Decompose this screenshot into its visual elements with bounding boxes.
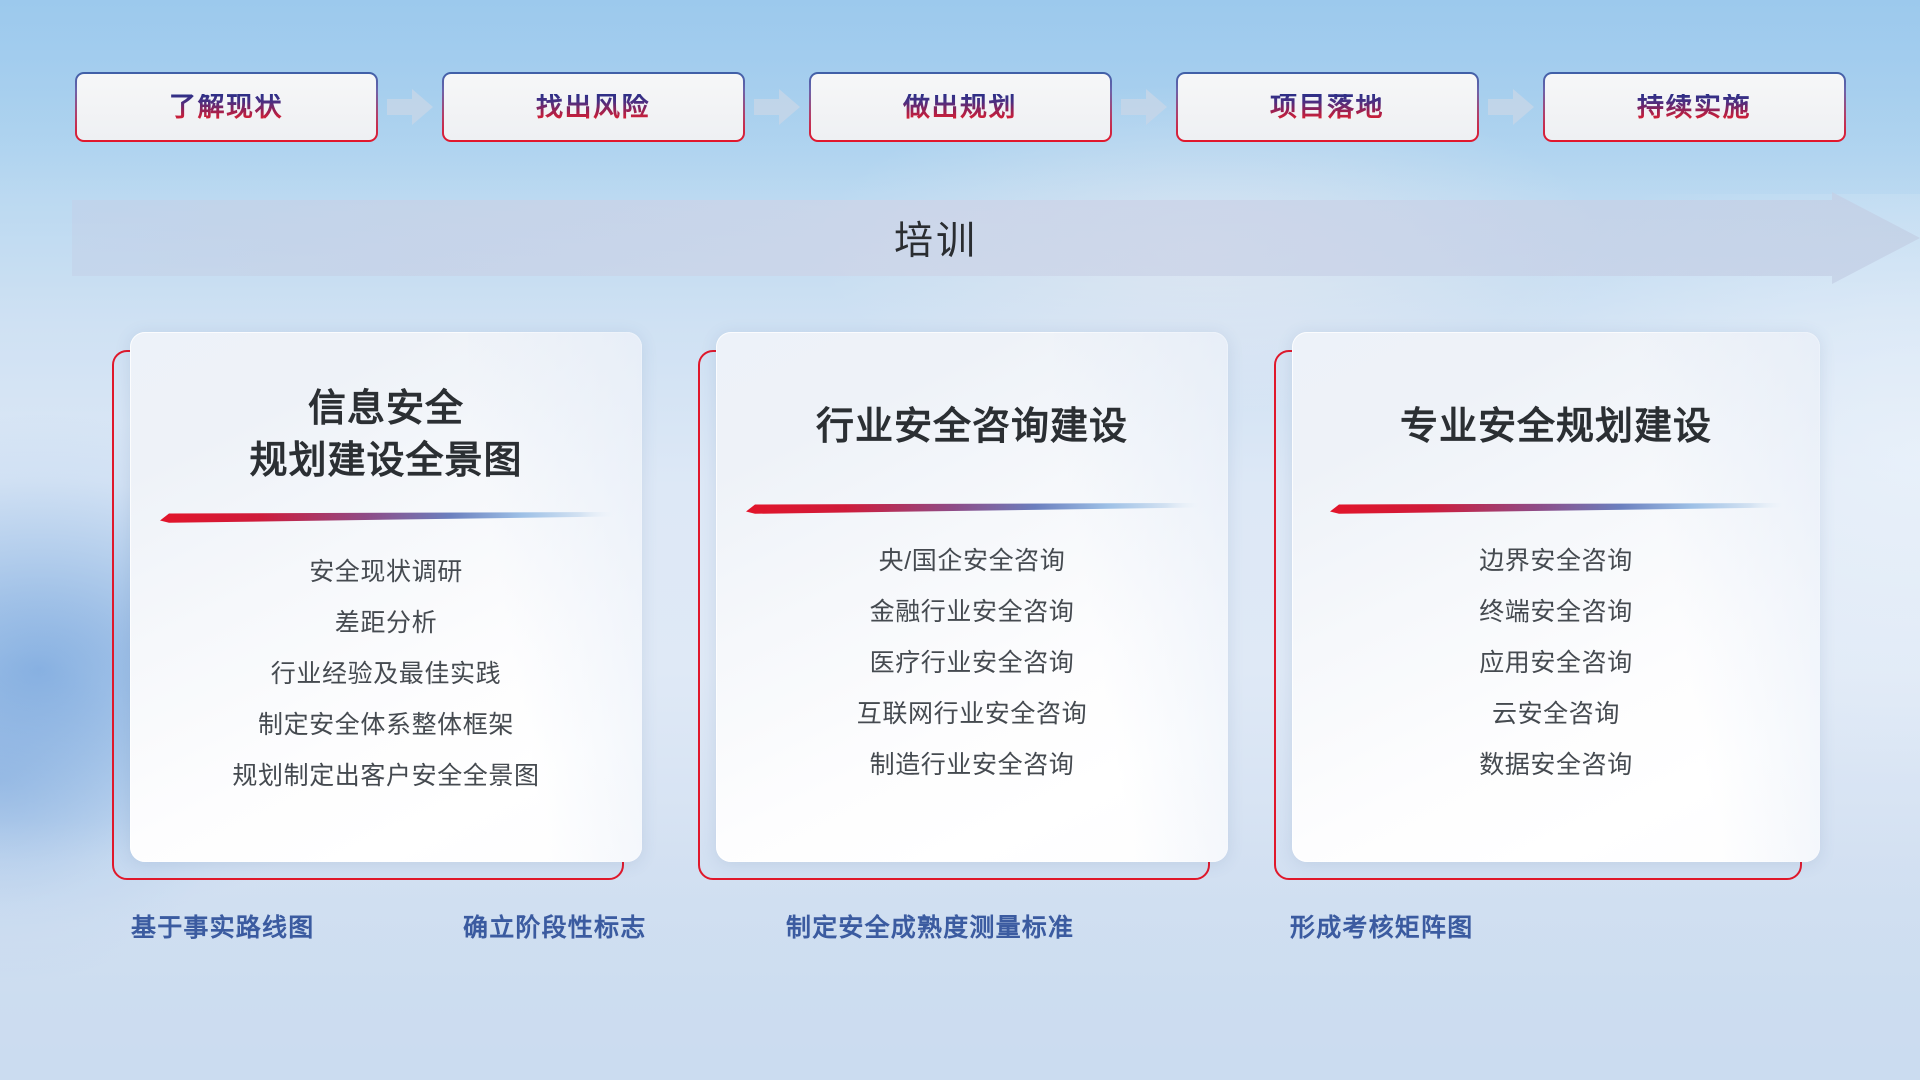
card-gradient-divider (160, 509, 612, 523)
card-body: 信息安全 规划建设全景图安全现状调研差距分析行业经验及最佳实践制定安全体系整体框… (130, 332, 642, 862)
card-panel: 信息安全 规划建设全景图安全现状调研差距分析行业经验及最佳实践制定安全体系整体框… (130, 332, 642, 862)
step-box-inner: 持续实施 (1545, 74, 1844, 140)
card-list-item: 金融行业安全咨询 (870, 587, 1075, 638)
card-row: 信息安全 规划建设全景图安全现状调研差距分析行业经验及最佳实践制定安全体系整体框… (0, 332, 1920, 880)
card-gradient-divider (1330, 500, 1782, 514)
card-item-list: 央/国企安全咨询金融行业安全咨询医疗行业安全咨询互联网行业安全咨询制造行业安全咨… (742, 536, 1202, 791)
step-connector-arrow-icon (1479, 84, 1543, 130)
step-box-3[interactable]: 做出规划 (809, 72, 1112, 142)
card-panel: 专业安全规划建设边界安全咨询终端安全咨询应用安全咨询云安全咨询数据安全咨询 (1292, 332, 1820, 862)
card-list-item: 行业经验及最佳实践 (271, 649, 501, 700)
step-label: 找出风险 (536, 94, 650, 121)
footnote-1: 基于事实路线图 (131, 905, 314, 951)
card-list-item: 制造行业安全咨询 (870, 740, 1075, 791)
training-arrow-band (72, 192, 1920, 284)
card-title: 信息安全 规划建设全景图 (249, 384, 522, 487)
step-box-inner: 做出规划 (811, 74, 1110, 140)
card-title: 专业安全规划建设 (1400, 402, 1712, 454)
step-box-inner: 找出风险 (444, 74, 743, 140)
card-list-item: 央/国企安全咨询 (879, 536, 1066, 587)
step-connector-arrow-icon (1112, 84, 1176, 130)
step-box-4[interactable]: 项目落地 (1176, 72, 1479, 142)
step-box-inner: 了解现状 (77, 74, 376, 140)
card-list-item: 终端安全咨询 (1479, 587, 1633, 638)
process-step-row: 了解现状找出风险做出规划项目落地持续实施 (0, 72, 1920, 142)
step-connector-arrow-icon (378, 84, 442, 130)
card-body: 行业安全咨询建设央/国企安全咨询金融行业安全咨询医疗行业安全咨询互联网行业安全咨… (716, 332, 1228, 862)
card-item-list: 边界安全咨询终端安全咨询应用安全咨询云安全咨询数据安全咨询 (1318, 536, 1794, 791)
card-gradient-divider (746, 500, 1198, 514)
card-list-item: 云安全咨询 (1492, 689, 1620, 740)
step-box-2[interactable]: 找出风险 (442, 72, 745, 142)
step-label: 了解现状 (169, 94, 283, 121)
step-label: 持续实施 (1637, 94, 1751, 121)
step-label: 做出规划 (903, 94, 1017, 121)
card-list-item: 边界安全咨询 (1479, 536, 1633, 587)
card-item-list: 安全现状调研差距分析行业经验及最佳实践制定安全体系整体框架规划制定出客户安全全景… (156, 547, 616, 802)
footnote-row: 基于事实路线图确立阶段性标志制定安全成熟度测量标准形成考核矩阵图 (0, 905, 1920, 951)
footnote-3: 制定安全成熟度测量标准 (786, 905, 1074, 951)
step-connector-arrow-icon (745, 84, 809, 130)
step-box-1[interactable]: 了解现状 (75, 72, 378, 142)
card-3[interactable]: 专业安全规划建设边界安全咨询终端安全咨询应用安全咨询云安全咨询数据安全咨询 (1274, 332, 1820, 880)
card-1[interactable]: 信息安全 规划建设全景图安全现状调研差距分析行业经验及最佳实践制定安全体系整体框… (112, 332, 642, 880)
card-title: 行业安全咨询建设 (816, 402, 1128, 454)
card-list-item: 应用安全咨询 (1479, 638, 1633, 689)
step-box-inner: 项目落地 (1178, 74, 1477, 140)
card-list-item: 差距分析 (335, 598, 437, 649)
card-list-item: 数据安全咨询 (1479, 740, 1633, 791)
card-2[interactable]: 行业安全咨询建设央/国企安全咨询金融行业安全咨询医疗行业安全咨询互联网行业安全咨… (698, 332, 1228, 880)
step-label: 项目落地 (1270, 94, 1384, 121)
footnote-2: 确立阶段性标志 (463, 905, 646, 951)
step-box-5[interactable]: 持续实施 (1543, 72, 1846, 142)
card-list-item: 规划制定出客户安全全景图 (232, 751, 539, 802)
card-list-item: 制定安全体系整体框架 (258, 700, 514, 751)
card-list-item: 医疗行业安全咨询 (870, 638, 1075, 689)
card-list-item: 安全现状调研 (309, 547, 463, 598)
card-panel: 行业安全咨询建设央/国企安全咨询金融行业安全咨询医疗行业安全咨询互联网行业安全咨… (716, 332, 1228, 862)
footnote-4: 形成考核矩阵图 (1290, 905, 1473, 951)
card-list-item: 互联网行业安全咨询 (857, 689, 1087, 740)
card-body: 专业安全规划建设边界安全咨询终端安全咨询应用安全咨询云安全咨询数据安全咨询 (1292, 332, 1820, 862)
